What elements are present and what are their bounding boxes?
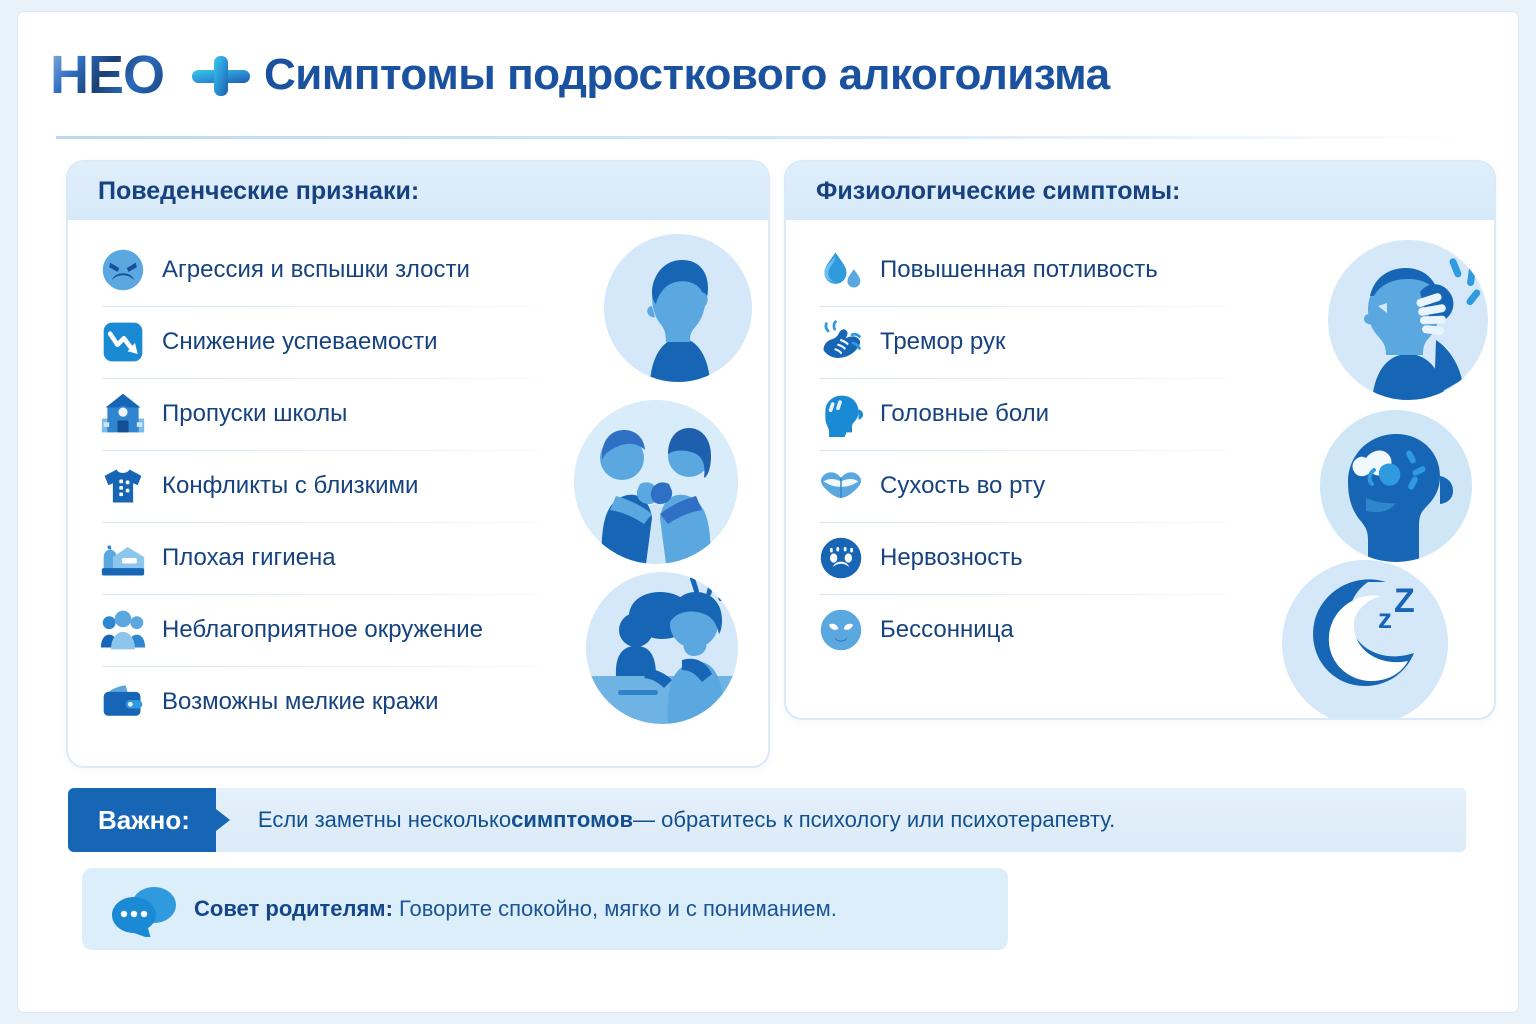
important-text-after: — обратитесь к психологу или психотерапе… xyxy=(633,807,1115,833)
soap-bar-icon xyxy=(98,533,148,583)
header-divider xyxy=(56,136,1474,139)
physiological-symptoms-list: Повышенная потливость xyxy=(786,234,1494,666)
list-item[interactable]: Неблагоприятное окружение xyxy=(68,594,768,666)
list-item[interactable]: Снижение успеваемости xyxy=(68,306,768,378)
list-item[interactable]: Нервозность xyxy=(786,522,1494,594)
list-item-label: Пропуски школы xyxy=(162,400,347,428)
header: НЕО Симптомы подросткового алкоголизма xyxy=(18,12,1518,132)
speech-bubbles-icon xyxy=(108,881,178,937)
sleepless-face-icon xyxy=(816,605,866,655)
head-pain-icon xyxy=(816,389,866,439)
list-item-label: Повышенная потливость xyxy=(880,256,1158,284)
list-item[interactable]: Сухость во рту xyxy=(786,450,1494,522)
list-item[interactable]: Головные боли xyxy=(786,378,1494,450)
list-item-label: Агрессия и вспышки злости xyxy=(162,256,470,284)
list-item-label: Бессонница xyxy=(880,616,1014,644)
important-banner: Важно: Если заметны несколько симптомов … xyxy=(68,788,1466,852)
arrow-right-icon xyxy=(216,809,230,831)
list-item-label: Тремор рук xyxy=(880,328,1005,356)
panel-physiological-heading: Физиологические симптомы: xyxy=(786,162,1494,220)
list-item-label: Возможны мелкие кражи xyxy=(162,688,439,716)
list-item-label: Плохая гигиена xyxy=(162,544,336,572)
brand-logo: НЕО xyxy=(50,48,164,102)
list-item-label: Головные боли xyxy=(880,400,1049,428)
list-item[interactable]: Тремор рук xyxy=(786,306,1494,378)
list-item[interactable]: Бессонница xyxy=(786,594,1494,666)
list-item-label: Сухость во рту xyxy=(880,472,1045,500)
list-item[interactable]: Возможны мелкие кражи xyxy=(68,666,768,738)
angry-face-icon xyxy=(98,245,148,295)
tshirt-icon xyxy=(98,461,148,511)
list-item[interactable]: Пропуски школы xyxy=(68,378,768,450)
important-text-before: Если заметны несколько xyxy=(258,807,511,833)
nervous-face-icon xyxy=(816,533,866,583)
panel-behavioral-body: Агрессия и вспышки злости Снижение успев… xyxy=(68,220,768,738)
shaking-hand-icon xyxy=(816,317,866,367)
list-item[interactable]: Конфликты с близкими xyxy=(68,450,768,522)
list-item[interactable]: Повышенная потливость xyxy=(786,234,1494,306)
list-item[interactable]: Агрессия и вспышки злости xyxy=(68,234,768,306)
advice-body: Говорите спокойно, мягко и с пониманием. xyxy=(393,896,837,921)
page-title: Симптомы подросткового алкоголизма xyxy=(264,50,1110,100)
water-drops-icon xyxy=(816,245,866,295)
panel-physiological-body: z Z Повышенная потливость xyxy=(786,220,1494,666)
school-building-icon xyxy=(98,389,148,439)
plus-icon xyxy=(190,56,252,96)
parent-advice-box: Совет родителям: Говорите спокойно, мягк… xyxy=(82,868,1008,950)
important-text-bold: симптомов xyxy=(511,807,633,833)
list-item-label: Нервозность xyxy=(880,544,1023,572)
status-badge: Важно: xyxy=(68,788,216,852)
panel-behavioral-signs: Поведенческие признаки: xyxy=(66,160,770,768)
behavioral-signs-list: Агрессия и вспышки злости Снижение успев… xyxy=(68,234,768,738)
infographic-card: НЕО Симптомы подросткового алкоголизма П… xyxy=(18,12,1518,1012)
chart-down-icon xyxy=(98,317,148,367)
list-item-label: Конфликты с близкими xyxy=(162,472,418,500)
group-people-icon xyxy=(98,605,148,655)
list-item-label: Снижение успеваемости xyxy=(162,328,438,356)
important-banner-text: Если заметны несколько симптомов — обрат… xyxy=(216,788,1115,852)
wallet-icon xyxy=(98,677,148,727)
important-badge-label: Важно: xyxy=(98,805,190,836)
parent-advice-text: Совет родителям: Говорите спокойно, мягк… xyxy=(194,896,837,922)
advice-title: Совет родителям: xyxy=(194,896,393,921)
panel-physiological-symptoms: Физиологические симптомы: xyxy=(784,160,1496,720)
list-item-label: Неблагоприятное окружение xyxy=(162,616,483,644)
panel-behavioral-heading: Поведенческие признаки: xyxy=(68,162,768,220)
lips-icon xyxy=(816,461,866,511)
list-item[interactable]: Плохая гигиена xyxy=(68,522,768,594)
